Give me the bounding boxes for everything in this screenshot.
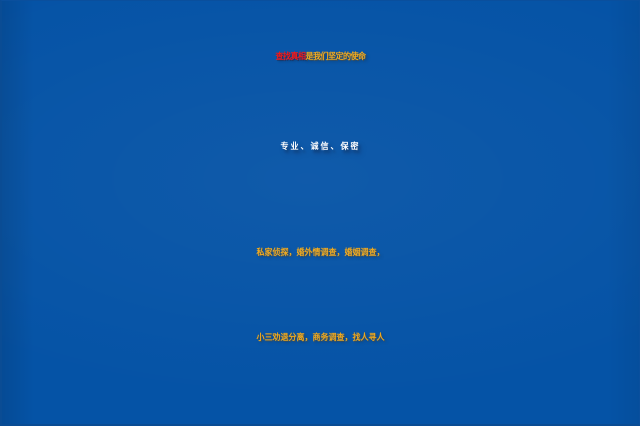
service-list-line-2-text: 小三劝退分离，商务调查，找人寻人 — [257, 333, 385, 342]
headline-highlight: 查找真相 — [276, 53, 306, 61]
headline: 查找真相是我们坚定的使命 — [2, 53, 639, 61]
service-list-line-1: 私家侦探，婚外情调查，婚姻调查， — [2, 249, 639, 257]
tagline: 专业、诚信、保密 — [2, 143, 639, 151]
advertising-banner: 查找真相是我们坚定的使命 专业、诚信、保密 私家侦探，婚外情调查，婚姻调查， 小… — [0, 0, 640, 426]
service-list-line-2: 小三劝退分离，商务调查，找人寻人 — [2, 334, 639, 342]
headline-rest: 是我们坚定的使命 — [306, 53, 366, 61]
service-list-line-1-text: 私家侦探，婚外情调查，婚姻调查， — [257, 248, 385, 257]
tagline-text: 专业、诚信、保密 — [281, 143, 361, 151]
